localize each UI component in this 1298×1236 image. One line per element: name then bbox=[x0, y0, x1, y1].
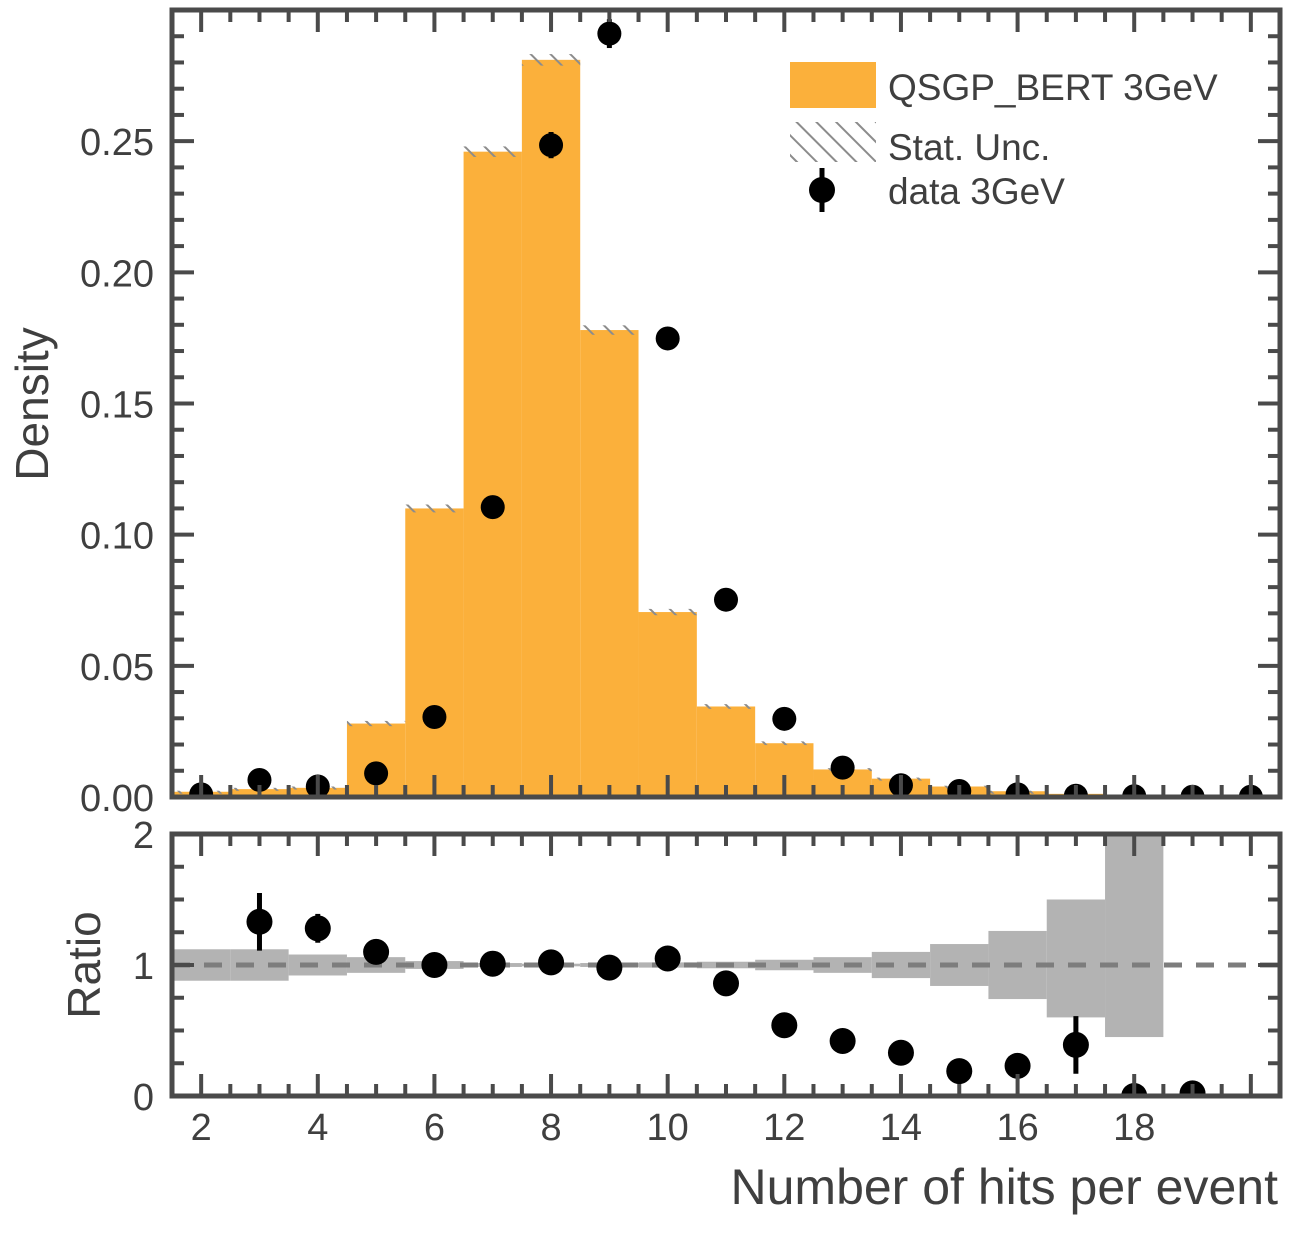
histogram-bin bbox=[639, 612, 697, 797]
x-tick-label: 6 bbox=[424, 1107, 445, 1149]
stat-unc-bin bbox=[464, 146, 522, 156]
ratio-point bbox=[1063, 1032, 1089, 1058]
data-point bbox=[481, 495, 505, 519]
physics-histogram-figure: 0.000.050.100.150.200.25 Density QSGP_BE… bbox=[0, 0, 1298, 1236]
legend-swatch-stat-unc bbox=[790, 122, 876, 162]
stat-unc-bin bbox=[755, 741, 813, 745]
data-point bbox=[772, 707, 796, 731]
ratio-point bbox=[946, 1058, 972, 1084]
histogram-bin bbox=[697, 706, 755, 797]
stat-unc-bin bbox=[347, 721, 405, 726]
ratio-band-bin bbox=[1047, 900, 1105, 1018]
ratio-point bbox=[538, 949, 564, 975]
x-tick-label: 4 bbox=[307, 1107, 328, 1149]
stat-unc-bin bbox=[697, 704, 755, 709]
ratio-point bbox=[480, 951, 506, 977]
data-point bbox=[597, 22, 621, 46]
ratio-point bbox=[421, 952, 447, 978]
stat-unc-bin bbox=[580, 325, 638, 334]
data-point bbox=[364, 761, 388, 785]
x-tick-label: 14 bbox=[880, 1107, 922, 1149]
y-tick-label: 0.00 bbox=[80, 778, 154, 820]
ratio-point bbox=[713, 970, 739, 996]
y-tick-label: 0.15 bbox=[80, 385, 154, 427]
ratio-point bbox=[655, 945, 681, 971]
ratio-axis-label: Ratio bbox=[58, 911, 110, 1018]
ratio-point bbox=[246, 909, 272, 935]
legend-marker-point bbox=[809, 177, 835, 203]
y-tick-label: 0.20 bbox=[80, 253, 154, 295]
figure-root: 0.000.050.100.150.200.25 Density QSGP_BE… bbox=[0, 0, 1298, 1236]
stat-unc-bin bbox=[639, 609, 697, 615]
x-axis-label: Number of hits per event bbox=[731, 1159, 1279, 1215]
upper-axis-label-density: Density bbox=[6, 327, 58, 480]
data-point bbox=[714, 588, 738, 612]
y-tick-label: 0.25 bbox=[80, 122, 154, 164]
ratio-point bbox=[305, 915, 331, 941]
ratio-point bbox=[830, 1028, 856, 1054]
legend-label-model: QSGP_BERT 3GeV bbox=[888, 67, 1218, 108]
x-tick-label: 12 bbox=[763, 1107, 805, 1149]
ratio-y-tick-label: 0 bbox=[133, 1077, 154, 1119]
data-point bbox=[422, 705, 446, 729]
histogram-bin bbox=[580, 330, 638, 797]
histogram-bin bbox=[522, 60, 580, 797]
y-tick-label: 0.05 bbox=[80, 647, 154, 689]
x-tick-label: 18 bbox=[1113, 1107, 1155, 1149]
data-point bbox=[656, 326, 680, 350]
ratio-point bbox=[596, 955, 622, 981]
x-tick-label: 16 bbox=[996, 1107, 1038, 1149]
ratio-point bbox=[363, 939, 389, 965]
ratio-point bbox=[771, 1012, 797, 1038]
data-point bbox=[831, 756, 855, 780]
ratio-band-bin bbox=[1105, 834, 1163, 1037]
x-tick-label: 10 bbox=[647, 1107, 689, 1149]
ratio-point bbox=[888, 1040, 914, 1066]
stat-unc-bin bbox=[405, 504, 463, 512]
data-point bbox=[539, 133, 563, 157]
stat-unc-bin bbox=[522, 54, 580, 66]
x-tick-label: 2 bbox=[191, 1107, 212, 1149]
ratio-y-tick-label: 2 bbox=[133, 815, 154, 857]
x-tick-label: 8 bbox=[540, 1107, 561, 1149]
ratio-y-tick-label: 1 bbox=[133, 946, 154, 988]
legend-label-data: data 3GeV bbox=[888, 171, 1065, 212]
histogram-bin bbox=[464, 152, 522, 797]
legend-swatch-model bbox=[790, 62, 876, 108]
histogram-bin bbox=[405, 508, 463, 797]
legend-label-stat-unc: Stat. Unc. bbox=[888, 127, 1050, 168]
y-tick-label: 0.10 bbox=[80, 516, 154, 558]
